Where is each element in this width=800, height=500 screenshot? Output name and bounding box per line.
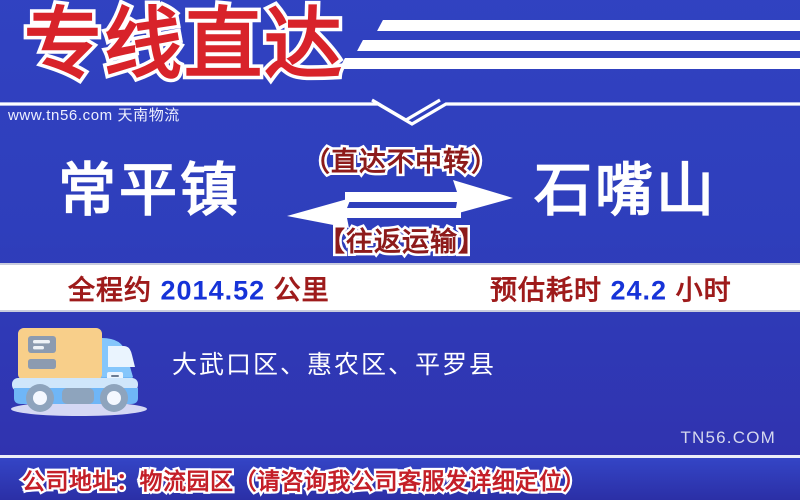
watermark-label: TN56.COM [680,428,776,448]
distance-prefix-label: 全程约 [68,275,152,305]
distance-metric: 全程约 2014.52 公里 [68,268,330,307]
stripe-1 [377,20,800,31]
footer-band: 公司地址：物流园区（请咨询我公司客服发详细定位） [0,455,800,500]
poster-headline: 专线直达 [24,2,344,86]
stripe-2 [357,40,800,51]
distance-value: 2014.52 [161,275,266,305]
duration-unit-label: 小时 [676,275,732,305]
site-url-label: www.tn56.com 天南物流 [8,104,180,125]
company-address-label: 公司地址：物流园区（请咨询我公司客服发详细定位） [22,462,586,496]
duration-prefix-label: 预估耗时 [490,275,602,305]
coverage-areas-label: 大武口区、惠农区、平罗县 [172,345,496,381]
delivery-truck-icon [4,318,154,416]
origin-city: 常平镇 [58,162,241,220]
duration-metric: 预估耗时 24.2 小时 [490,268,732,307]
bidirectional-arrow-icon [285,180,515,228]
logistics-route-poster: 专线直达 www.tn56.com 天南物流 常平镇 石嘴山 （直达不中转） 【… [0,0,800,500]
destination-city: 石嘴山 [534,162,717,220]
caption-direct-no-transfer: （直达不中转） [303,140,499,179]
stripe-3 [339,58,800,69]
metrics-band: 全程约 2014.52 公里 预估耗时 24.2 小时 [0,263,800,312]
distance-unit-label: 公里 [274,275,330,305]
duration-value: 24.2 [611,275,668,305]
